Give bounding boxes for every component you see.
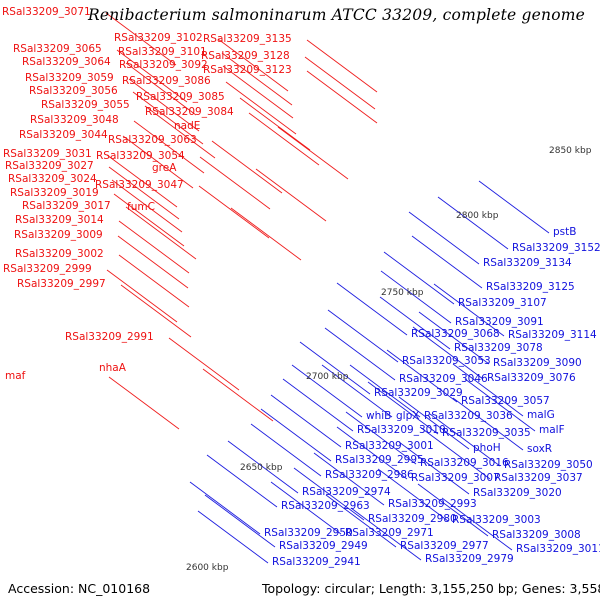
gene-forward-label[interactable]: RSal33209_3024 bbox=[8, 174, 97, 185]
gene-forward-label[interactable]: RSal33209_2997 bbox=[17, 279, 106, 290]
gene-reverse-label[interactable]: RSal33209_3020 bbox=[473, 488, 562, 499]
gene-reverse-label[interactable]: RSal33209_3001 bbox=[345, 441, 434, 452]
tick-label[interactable]: 2800 kbp bbox=[456, 211, 498, 222]
gene-forward-label[interactable]: RSal33209_3086 bbox=[122, 76, 211, 87]
gene-reverse-label[interactable]: RSal33209_3036 bbox=[424, 411, 513, 422]
gene-forward-label[interactable]: RSal33209_3135 bbox=[203, 34, 292, 45]
gene-reverse-label[interactable]: RSal33209_2980 bbox=[368, 514, 457, 525]
gene-reverse-label[interactable]: malG bbox=[527, 410, 555, 421]
gene-forward-label[interactable]: RSal33209_3009 bbox=[14, 230, 103, 241]
gene-forward-label[interactable]: RSal33209_3031 bbox=[3, 149, 92, 160]
gene-reverse-label[interactable]: RSal33209_3007 bbox=[411, 473, 500, 484]
gene-reverse-label[interactable]: RSal33209_3008 bbox=[492, 530, 581, 541]
gene-reverse-label[interactable]: RSal33209_3010 bbox=[357, 425, 446, 436]
gene-reverse-label[interactable]: RSal33209_3114 bbox=[508, 330, 597, 341]
gene-reverse-label[interactable]: malF bbox=[539, 425, 565, 436]
accession-text: Accession: NC_010168 bbox=[8, 581, 150, 596]
gene-forward-label[interactable]: RSal33209_3048 bbox=[30, 115, 119, 126]
gene-forward-label[interactable]: nhaA bbox=[99, 363, 126, 374]
gene-reverse-label[interactable]: RSal33209_3078 bbox=[454, 343, 543, 354]
gene-forward-label[interactable]: RSal33209_3123 bbox=[203, 65, 292, 76]
gene-forward-label[interactable]: RSal33209_3002 bbox=[15, 249, 104, 260]
gene-reverse-label[interactable]: RSal33209_2979 bbox=[425, 554, 514, 565]
tick-label[interactable]: 2650 kbp bbox=[240, 463, 282, 474]
gene-reverse-label[interactable]: RSal33209_2974 bbox=[302, 487, 391, 498]
gene-forward-label[interactable]: RSal33209_3101 bbox=[118, 47, 207, 58]
gene-reverse-label[interactable]: RSal33209_3091 bbox=[455, 317, 544, 328]
gene-reverse-label[interactable]: RSal33209_3037 bbox=[494, 473, 583, 484]
gene-forward-label[interactable]: RSal33209_3056 bbox=[29, 86, 118, 97]
gene-reverse-label[interactable]: RSal33209_2971 bbox=[345, 528, 434, 539]
tick-label[interactable]: 2750 kbp bbox=[381, 288, 423, 299]
gene-reverse-label[interactable]: RSal33209_3090 bbox=[493, 358, 582, 369]
gene-forward-label[interactable]: nadE bbox=[174, 121, 200, 132]
gene-reverse-label[interactable]: RSal33209_2950 bbox=[264, 528, 353, 539]
gene-forward-label[interactable]: RSal33209_3092 bbox=[119, 60, 208, 71]
gene-reverse-label[interactable]: RSal33209_3076 bbox=[487, 373, 576, 384]
gene-reverse-label[interactable]: soxR bbox=[527, 444, 552, 455]
gene-forward-label[interactable]: RSal33209_3128 bbox=[201, 51, 290, 62]
gene-reverse-label[interactable]: RSal33209_3029 bbox=[374, 388, 463, 399]
gene-forward-label[interactable]: RSal33209_2991 bbox=[65, 332, 154, 343]
gene-reverse-label[interactable]: RSal33209_3035 bbox=[442, 428, 531, 439]
gene-reverse-label[interactable]: glpX bbox=[396, 411, 419, 422]
gene-forward-label[interactable]: greA bbox=[152, 163, 176, 174]
gene-forward-label[interactable]: RSal33209_3027 bbox=[5, 161, 94, 172]
gene-reverse-label[interactable]: pstB bbox=[553, 227, 576, 238]
gene-forward-label[interactable]: RSal33209_3084 bbox=[145, 107, 234, 118]
gene-forward-label[interactable]: RSal33209_3102 bbox=[114, 33, 203, 44]
gene-reverse-label[interactable]: RSal33209_2963 bbox=[281, 501, 370, 512]
gene-reverse-label[interactable]: RSal33209_2941 bbox=[272, 557, 361, 568]
gene-reverse-label[interactable]: phoH bbox=[473, 443, 501, 454]
gene-forward-label[interactable]: RSal33209_3064 bbox=[22, 57, 111, 68]
gene-forward-label[interactable]: RSal33209_3054 bbox=[96, 151, 185, 162]
gene-reverse-label[interactable]: RSal33209_2993 bbox=[388, 499, 477, 510]
gene-reverse-label[interactable]: RSal33209_3152 bbox=[512, 243, 600, 254]
gene-forward-label[interactable]: RSal33209_2999 bbox=[3, 264, 92, 275]
gene-reverse-label[interactable]: RSal33209_3125 bbox=[486, 282, 575, 293]
tick-label[interactable]: 2850 kbp bbox=[549, 146, 591, 157]
gene-reverse-label[interactable]: RSal33209_2977 bbox=[400, 541, 489, 552]
gene-reverse-label[interactable]: RSal33209_3068 bbox=[411, 329, 500, 340]
gene-forward-label[interactable]: RSal33209_3014 bbox=[15, 215, 104, 226]
gene-reverse-label[interactable]: RSal33209_3057 bbox=[461, 396, 550, 407]
gene-reverse-label[interactable]: RSal33209_3050 bbox=[504, 460, 593, 471]
gene-forward-label[interactable]: RSal33209_3059 bbox=[25, 73, 114, 84]
gene-forward-label[interactable]: RSal33209_3063 bbox=[108, 135, 197, 146]
gene-forward-label[interactable]: RSal33209_3085 bbox=[136, 92, 225, 103]
page-title: Renibacterium salmoninarum ATCC 33209, c… bbox=[88, 6, 585, 24]
gene-reverse-label[interactable]: RSal33209_3134 bbox=[483, 258, 572, 269]
gene-forward-label[interactable]: RSal33209_3019 bbox=[10, 188, 99, 199]
genome-info-text: Topology: circular; Length: 3,155,250 bp… bbox=[262, 581, 600, 596]
tick-label[interactable]: 2600 kbp bbox=[186, 563, 228, 574]
gene-forward-label[interactable]: RSal33209_3071 bbox=[2, 7, 91, 18]
gene-forward-label[interactable]: RSal33209_3065 bbox=[13, 44, 102, 55]
gene-reverse-label[interactable]: RSal33209_3016 bbox=[420, 458, 509, 469]
gene-reverse-label[interactable]: whiB bbox=[366, 411, 391, 422]
gene-reverse-label[interactable]: RSal33209_3011 bbox=[516, 544, 600, 555]
gene-forward-label[interactable]: RSal33209_3017 bbox=[22, 201, 111, 212]
gene-reverse-label[interactable]: RSal33209_3107 bbox=[458, 298, 547, 309]
gene-forward-label[interactable]: RSal33209_3047 bbox=[95, 180, 184, 191]
gene-reverse-label[interactable]: RSal33209_2949 bbox=[279, 541, 368, 552]
gene-forward-label[interactable]: maf bbox=[5, 371, 25, 382]
gene-forward-label[interactable]: RSal33209_3055 bbox=[41, 100, 130, 111]
gene-reverse-label[interactable]: RSal33209_3046 bbox=[399, 374, 488, 385]
tick-label[interactable]: 2700 kbp bbox=[306, 372, 348, 383]
gene-reverse-label[interactable]: RSal33209_3003 bbox=[452, 515, 541, 526]
gene-reverse-label[interactable]: RSal33209_2986 bbox=[325, 470, 414, 481]
gene-forward-label[interactable]: RSal33209_3044 bbox=[19, 130, 108, 141]
gene-reverse-label[interactable]: RSal33209_3053 bbox=[402, 356, 491, 367]
gene-forward-label[interactable]: fumC bbox=[127, 202, 155, 213]
genome-map-viewer: Renibacterium salmoninarum ATCC 33209, c… bbox=[0, 0, 600, 600]
gene-reverse-label[interactable]: RSal33209_2995 bbox=[335, 455, 424, 466]
